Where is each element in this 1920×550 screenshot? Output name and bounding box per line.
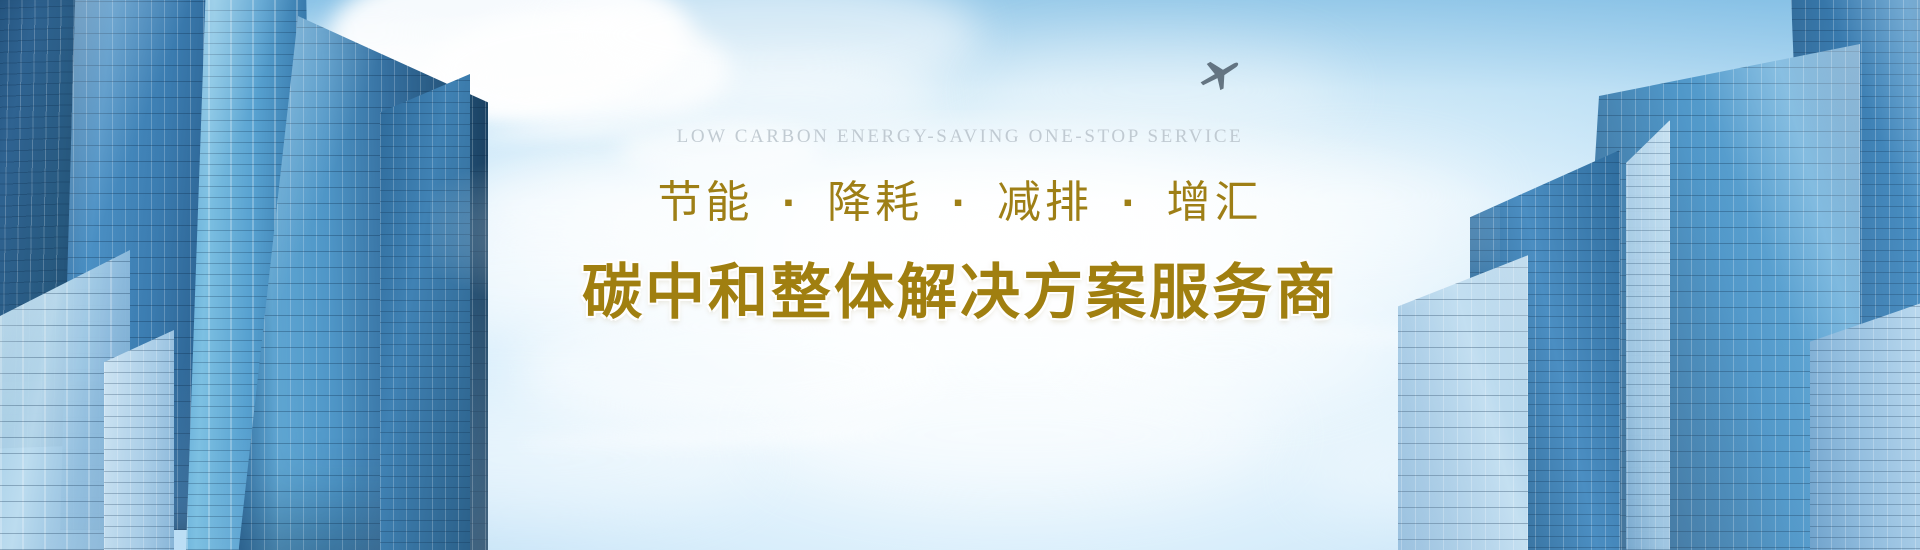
subtitle-separator-icon: ▪	[1123, 187, 1136, 218]
hero-banner: LOW CARBON ENERGY-SAVING ONE-STOP SERVIC…	[0, 0, 1920, 550]
subtitle-word-3: 减排	[997, 178, 1093, 227]
hero-text-block: LOW CARBON ENERGY-SAVING ONE-STOP SERVIC…	[0, 126, 1920, 331]
subtitle-word-4: 增汇	[1167, 178, 1263, 227]
banner-main-title: 碳中和整体解决方案服务商	[0, 244, 1920, 331]
banner-subtitle: 节能 ▪ 降耗 ▪ 减排 ▪ 增汇	[0, 166, 1920, 230]
subtitle-word-1: 节能	[657, 178, 753, 227]
banner-eyebrow-text: LOW CARBON ENERGY-SAVING ONE-STOP SERVIC…	[0, 126, 1920, 148]
subtitle-separator-icon: ▪	[953, 187, 966, 218]
subtitle-separator-icon: ▪	[784, 187, 797, 218]
subtitle-word-2: 降耗	[827, 178, 923, 227]
